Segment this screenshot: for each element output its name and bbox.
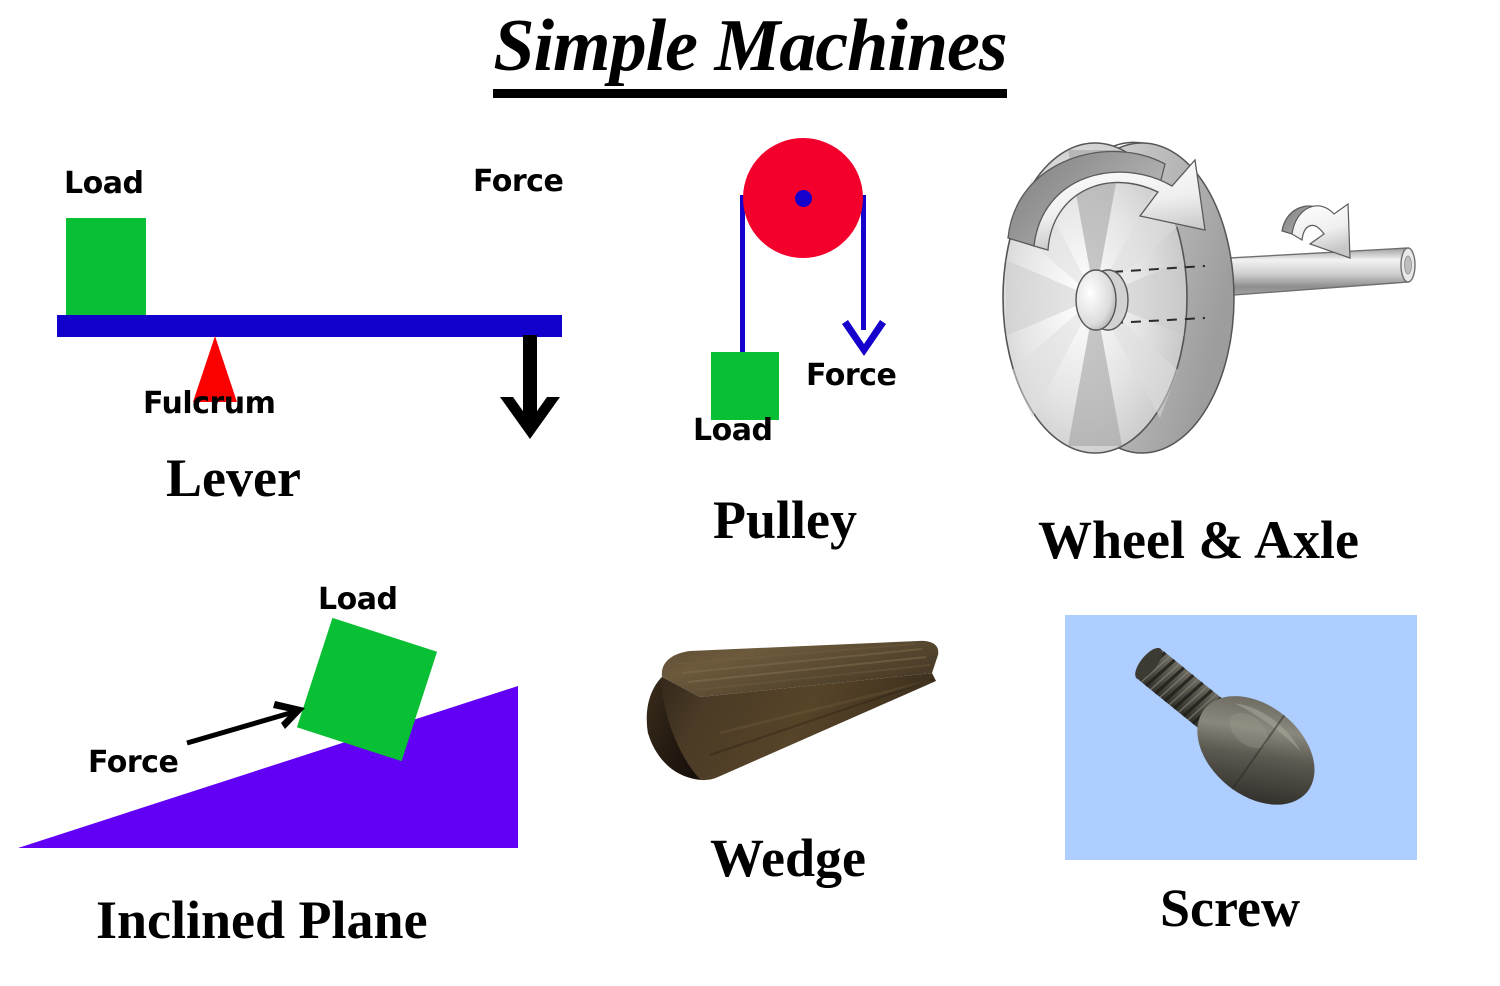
pulley-load-block: [711, 352, 779, 420]
machine-name-wedge: Wedge: [710, 830, 866, 886]
machine-name-lever: Lever: [166, 450, 301, 506]
screw-illustration: [1065, 615, 1417, 860]
lever-beam: [57, 315, 562, 337]
screw-photo-background: [1065, 615, 1417, 860]
inclined-plane-force-label: Force: [88, 747, 178, 779]
page-title-text: Simple Machines: [493, 5, 1006, 98]
lever-force-label: Force: [473, 166, 563, 198]
pulley-hub-dot: [795, 190, 812, 207]
pulley-force-label: Force: [806, 360, 896, 392]
machine-panel-screw: Screw: [1040, 600, 1440, 900]
machine-panel-wheel-axle: Wheel & Axle: [990, 130, 1500, 570]
lever-force-arrow-icon: [495, 335, 565, 445]
lever-fulcrum-label: Fulcrum: [143, 388, 275, 420]
machine-panel-inclined-plane: Load Force Inclined Plane: [0, 570, 560, 980]
machine-panel-wedge: Wedge: [600, 615, 1000, 915]
wheel-and-axle-illustration: [990, 130, 1460, 510]
inclined-plane-load-label: Load: [318, 584, 397, 616]
machine-name-pulley: Pulley: [713, 492, 857, 548]
machine-panel-lever: Load Force Fulcrum Lever: [0, 130, 620, 530]
simple-machines-poster: Simple Machines Load Force Fulcrum Lever…: [0, 0, 1500, 986]
inclined-plane-force-arrow-icon: [185, 695, 315, 755]
wedge-illustration: [600, 615, 980, 825]
lever-load-label: Load: [64, 168, 143, 200]
machine-panel-pulley: Force Load Pulley: [645, 130, 985, 550]
pulley-rope-left: [740, 195, 745, 355]
pulley-rope-right: [861, 195, 866, 330]
page-title: Simple Machines: [0, 2, 1500, 90]
machine-name-wheel-axle: Wheel & Axle: [1038, 512, 1359, 568]
machine-name-screw: Screw: [1160, 880, 1300, 936]
machine-name-inclined-plane: Inclined Plane: [96, 892, 428, 948]
lever-load-block: [66, 218, 146, 315]
pulley-load-label: Load: [693, 415, 772, 447]
